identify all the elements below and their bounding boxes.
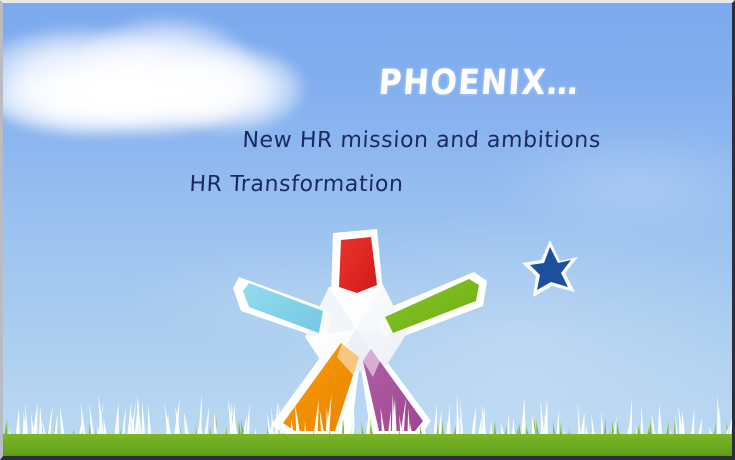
grass-foreground <box>0 390 735 460</box>
slide-subtitle-2: HR Transformation <box>189 174 404 196</box>
figure-part-head <box>339 237 377 293</box>
cloud-icon <box>3 65 243 135</box>
slide-title: PHOENIX… <box>378 66 581 101</box>
figure-part-arm-left <box>243 283 323 333</box>
slide-subtitle-1: New HR mission and ambitions <box>242 130 602 152</box>
presentation-slide: PHOENIX… New HR mission and ambitions HR… <box>0 0 735 460</box>
star-icon <box>519 237 581 299</box>
sky-background <box>3 3 732 456</box>
grass-base-shadow <box>0 453 735 460</box>
